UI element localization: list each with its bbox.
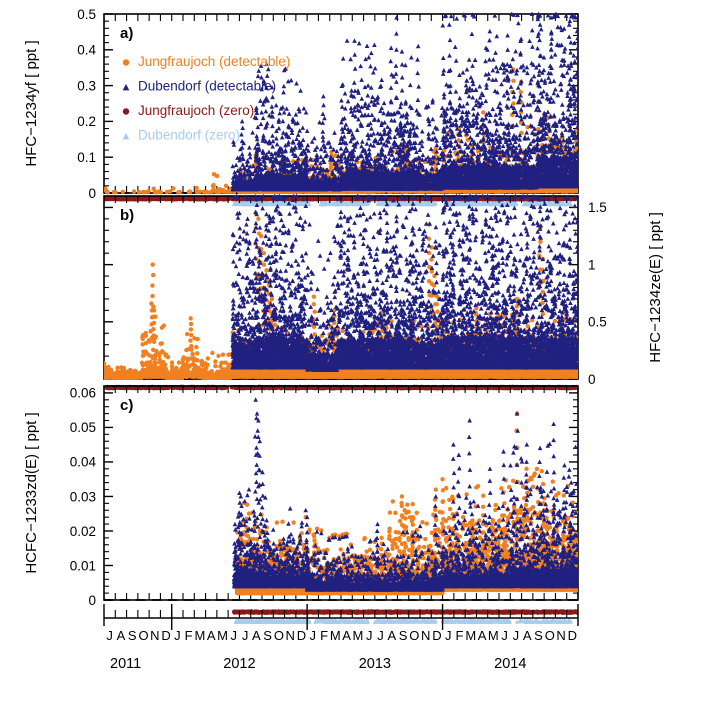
x-month-label: M bbox=[353, 628, 364, 643]
series-dubendorf-detectable bbox=[230, 12, 580, 192]
x-year-label: 2012 bbox=[223, 656, 255, 672]
x-month-label: F bbox=[456, 628, 464, 643]
data-layer bbox=[102, 194, 580, 391]
x-month-label: O bbox=[409, 628, 419, 643]
data-layer bbox=[232, 397, 581, 624]
x-month-label: F bbox=[185, 628, 193, 643]
y-axis-title: HFC−1234ze(E) [ ppt ] bbox=[647, 212, 664, 362]
y-tick-label: 0 bbox=[588, 372, 596, 387]
y-tick-label: 0.01 bbox=[70, 558, 96, 573]
x-month-label: A bbox=[117, 628, 126, 643]
x-month-label: J bbox=[501, 628, 508, 643]
y-tick-label: 0.1 bbox=[77, 150, 96, 165]
x-month-label: D bbox=[297, 628, 306, 643]
y-tick-label: 0.02 bbox=[70, 524, 96, 539]
x-month-label: J bbox=[445, 628, 452, 643]
panel-label: b) bbox=[120, 207, 134, 224]
x-month-label: D bbox=[432, 628, 441, 643]
x-month-label: A bbox=[523, 628, 532, 643]
x-month-label: J bbox=[242, 628, 249, 643]
y-tick-label: 0 bbox=[88, 593, 96, 608]
x-month-label: M bbox=[217, 628, 228, 643]
panel-c: 00.010.020.030.040.050.06c)HCFC−1233zd(E… bbox=[23, 386, 580, 624]
x-month-label: N bbox=[150, 628, 159, 643]
x-month-label: A bbox=[207, 628, 216, 643]
x-month-label: A bbox=[342, 628, 351, 643]
x-month-label: J bbox=[310, 628, 317, 643]
scatter-chart-canvas: 00.10.20.30.40.5a)HFC−1234yf [ ppt ]00.5… bbox=[0, 0, 720, 714]
x-month-label: N bbox=[286, 628, 295, 643]
y-tick-label: 0.06 bbox=[70, 386, 96, 401]
x-month-label: A bbox=[478, 628, 487, 643]
x-month-label: J bbox=[106, 628, 113, 643]
x-month-label: J bbox=[174, 628, 181, 643]
series-zero-flags bbox=[234, 618, 574, 624]
x-month-label: S bbox=[263, 628, 272, 643]
x-month-label: M bbox=[330, 628, 341, 643]
legend-label: Jungfraujoch (detectable) bbox=[138, 54, 290, 69]
x-month-label: J bbox=[366, 628, 373, 643]
panel-b: 00.511.5b)HFC−1234ze(E) [ ppt ] bbox=[102, 194, 664, 391]
legend-item bbox=[123, 133, 130, 139]
y-tick-label: 0.3 bbox=[77, 78, 96, 93]
y-tick-label: 1.5 bbox=[588, 200, 607, 215]
series-dubendorf-detectable bbox=[230, 194, 580, 372]
y-tick-label: 1 bbox=[588, 257, 596, 272]
x-month-label: O bbox=[138, 628, 148, 643]
legend-item bbox=[123, 108, 129, 114]
x-year-label: 2014 bbox=[494, 656, 526, 672]
x-month-label: D bbox=[161, 628, 170, 643]
x-month-label: J bbox=[513, 628, 520, 643]
x-year-label: 2011 bbox=[110, 656, 141, 672]
x-month-label: M bbox=[195, 628, 206, 643]
y-axis-title: HCFC−1233zd(E) [ ppt ] bbox=[23, 412, 40, 573]
x-month-label: A bbox=[387, 628, 396, 643]
x-month-label: S bbox=[399, 628, 408, 643]
y-tick-label: 0.05 bbox=[70, 420, 96, 435]
y-tick-label: 0.4 bbox=[77, 43, 96, 58]
x-month-label: J bbox=[377, 628, 384, 643]
series-dubendorf-detectable bbox=[232, 397, 581, 591]
legend-label: Dubendorf (detectable) bbox=[138, 79, 276, 94]
x-month-label: S bbox=[128, 628, 137, 643]
y-tick-label: 0.5 bbox=[77, 7, 96, 22]
x-month-label: F bbox=[320, 628, 328, 643]
x-month-label: O bbox=[545, 628, 555, 643]
legend-label: Jungfraujoch (zero) bbox=[138, 103, 254, 118]
x-month-label: M bbox=[488, 628, 499, 643]
x-month-label: M bbox=[465, 628, 476, 643]
panel-label: a) bbox=[120, 25, 133, 42]
x-year-label: 2013 bbox=[359, 656, 391, 672]
panel-label: c) bbox=[120, 397, 133, 414]
x-month-label: J bbox=[231, 628, 238, 643]
x-month-label: S bbox=[534, 628, 543, 643]
panel-a: 00.10.20.30.40.5a)HFC−1234yf [ ppt ] bbox=[23, 7, 580, 207]
y-tick-label: 0.03 bbox=[70, 489, 96, 504]
x-month-label: A bbox=[252, 628, 261, 643]
figure-root: 00.10.20.30.40.5a)HFC−1234yf [ ppt ]00.5… bbox=[0, 0, 720, 714]
x-month-label: N bbox=[556, 628, 565, 643]
legend-item bbox=[123, 59, 129, 65]
x-month-label: O bbox=[274, 628, 284, 643]
y-tick-label: 0.2 bbox=[77, 114, 96, 129]
y-tick-label: 0 bbox=[88, 186, 96, 201]
x-month-label: N bbox=[421, 628, 430, 643]
legend-label: Dubendorf (zero) bbox=[138, 128, 240, 143]
y-axis-title: HFC−1234yf [ ppt ] bbox=[23, 40, 40, 166]
y-tick-label: 0.04 bbox=[70, 455, 97, 470]
x-month-label: D bbox=[568, 628, 577, 643]
legend-item bbox=[123, 84, 130, 90]
y-tick-label: 0.5 bbox=[588, 315, 607, 330]
